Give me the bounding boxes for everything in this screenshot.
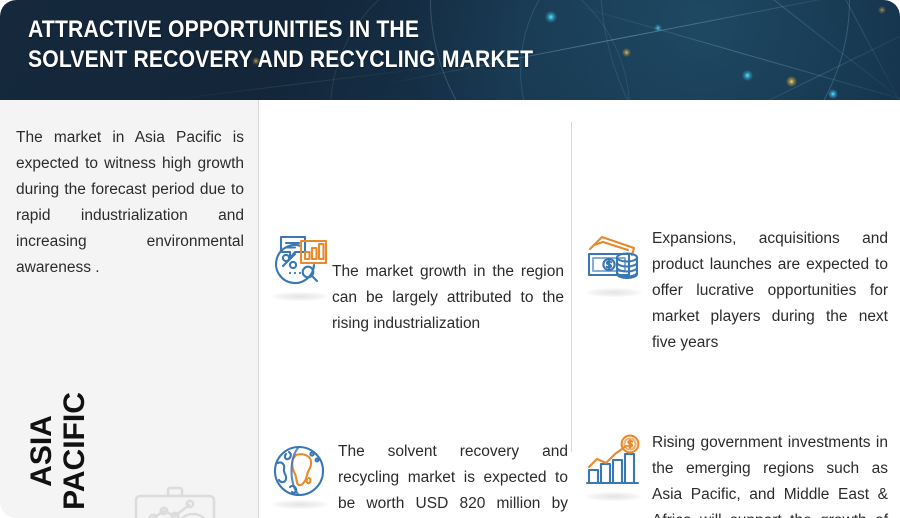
card-expansions-text: Expansions, acquisitions and product lau… — [652, 226, 888, 356]
card-market-growth: The market growth in the region can be l… — [268, 232, 568, 337]
icon-shadow — [272, 292, 328, 301]
banner-glow-cyan-3 — [828, 89, 838, 99]
region-label: ASIA PACIFIC — [25, 371, 91, 518]
presentation-chart-magnifier-icon — [123, 478, 227, 518]
header-banner: ATTRACTIVE OPPORTUNITIES IN THE SOLVENT … — [0, 0, 900, 100]
banner-glow-amber-1 — [786, 76, 797, 87]
banner-arc-3 — [600, 0, 900, 100]
banner-streak-3 — [656, 0, 900, 100]
divider-left — [258, 100, 259, 518]
globe-africa-icon — [268, 440, 330, 502]
page-title: ATTRACTIVE OPPORTUNITIES IN THE SOLVENT … — [28, 15, 533, 75]
left-column-paragraph: The market in Asia Pacific is expected t… — [16, 125, 244, 281]
banner-glow-cyan-2 — [742, 70, 753, 81]
icon-shadow — [586, 492, 642, 501]
divider-middle — [571, 122, 572, 452]
banner-glow-cyan-1 — [545, 11, 557, 23]
icon-shadow — [586, 288, 642, 297]
banner-streak-4 — [713, 13, 900, 100]
card-market-value: The solvent recovery and recycling marke… — [268, 440, 568, 518]
card-expansions: Expansions, acquisitions and product lau… — [582, 228, 888, 356]
icon-shadow — [272, 500, 328, 509]
card-market-value-text: The solvent recovery and recycling marke… — [338, 439, 568, 518]
content-area: The market in Asia Pacific is expected t… — [0, 100, 900, 518]
banner-glow-amber-4 — [878, 6, 886, 14]
growth-bar-chart-dollar-icon — [582, 432, 644, 494]
card-government-investments-text: Rising government investments in the eme… — [652, 430, 888, 518]
card-government-investments: Rising government investments in the eme… — [582, 432, 888, 518]
left-column: The market in Asia Pacific is expected t… — [0, 100, 258, 518]
cash-coins-money-icon — [582, 228, 644, 290]
banner-glow-cyan-4 — [654, 24, 662, 32]
banner-arc-2 — [520, 0, 900, 100]
analytics-speech-bubble-bar-chart-icon — [268, 232, 330, 294]
banner-glow-amber-2 — [622, 48, 631, 57]
banner-streak-6 — [813, 0, 900, 100]
card-market-growth-text: The market growth in the region can be l… — [332, 259, 564, 337]
infographic-root: ATTRACTIVE OPPORTUNITIES IN THE SOLVENT … — [0, 0, 900, 518]
banner-streak-2 — [568, 3, 900, 100]
